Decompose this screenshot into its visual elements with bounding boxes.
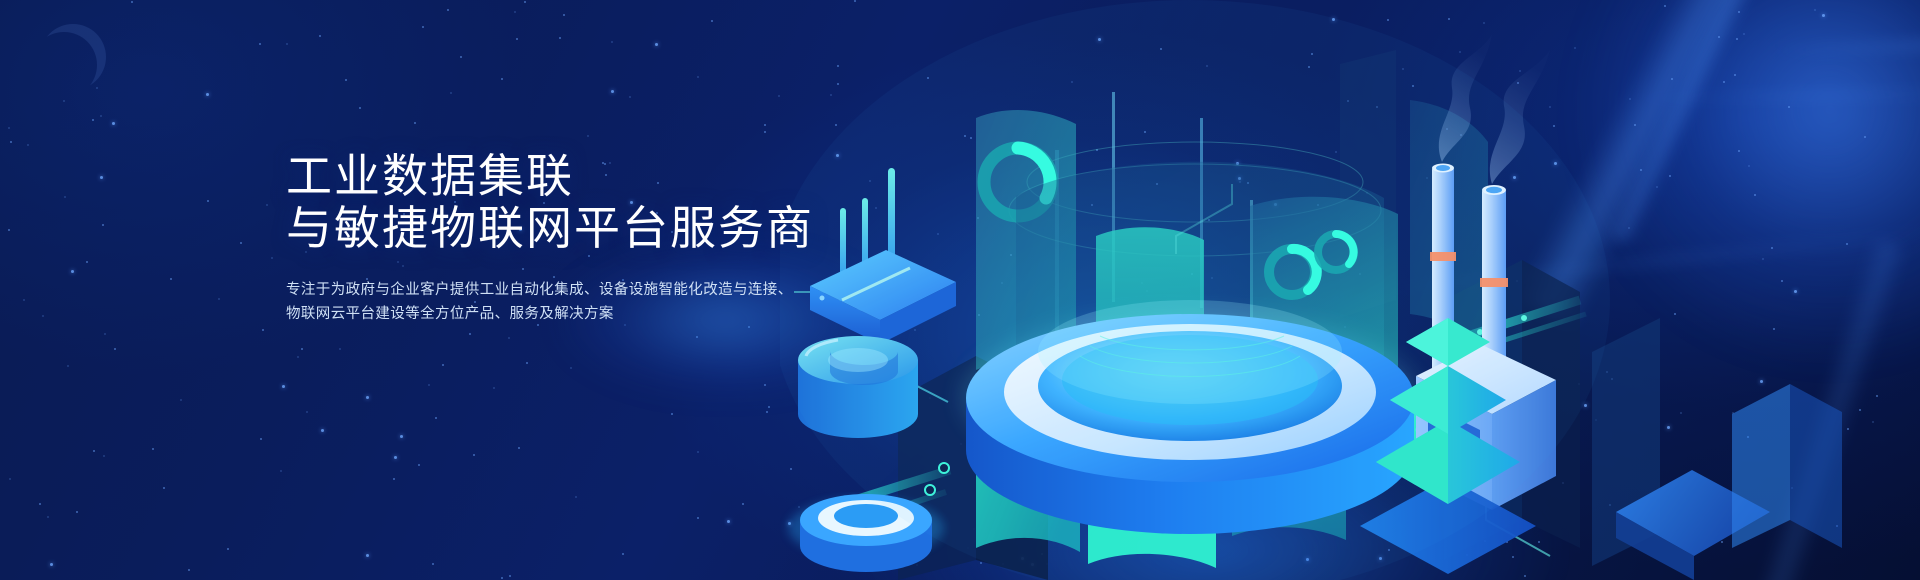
star <box>622 553 624 555</box>
star <box>469 333 471 335</box>
star <box>63 100 65 102</box>
star <box>697 517 699 519</box>
star <box>8 229 10 231</box>
star <box>306 411 308 413</box>
star <box>104 333 106 335</box>
star <box>508 337 510 339</box>
star <box>42 315 44 317</box>
star <box>764 124 766 126</box>
star <box>516 38 518 40</box>
star <box>206 93 209 96</box>
star <box>766 411 768 413</box>
star <box>114 348 116 350</box>
star <box>67 365 69 367</box>
star <box>286 43 288 45</box>
subtitle-line-2: 物联网云平台建设等全方位产品、服务及解决方案 <box>286 302 906 326</box>
star <box>260 438 262 440</box>
star <box>697 451 699 453</box>
star <box>39 503 41 505</box>
star <box>559 37 561 39</box>
star <box>10 141 12 143</box>
star <box>9 478 11 480</box>
star <box>103 455 105 457</box>
star <box>96 87 98 89</box>
star <box>563 14 565 16</box>
banner-copy: 工业数据集联 与敏捷物联网平台服务商 专注于为政府与企业客户提供工业自动化集成、… <box>286 150 906 326</box>
star <box>442 364 444 366</box>
star <box>727 520 730 523</box>
star <box>280 470 282 472</box>
star <box>509 575 511 577</box>
star <box>414 122 416 124</box>
star <box>366 396 369 399</box>
page-title-line-1: 工业数据集联 <box>286 150 906 202</box>
star <box>92 119 94 121</box>
star <box>764 131 766 133</box>
star <box>366 554 369 557</box>
star <box>86 261 88 263</box>
banner-subtitle: 专注于为政府与企业客户提供工业自动化集成、设备设施智能化改造与连接、 物联网云平… <box>286 278 906 326</box>
star <box>493 387 495 389</box>
star <box>450 92 452 94</box>
star <box>501 577 503 579</box>
star <box>339 348 341 350</box>
star <box>102 224 104 226</box>
star <box>170 278 172 280</box>
star <box>435 417 437 419</box>
star <box>71 270 74 273</box>
star <box>271 257 273 259</box>
star <box>428 384 430 386</box>
star <box>218 298 220 300</box>
star <box>393 478 395 480</box>
star <box>152 448 154 450</box>
star <box>629 96 631 98</box>
star <box>575 496 577 498</box>
star <box>711 20 713 22</box>
star <box>501 78 503 80</box>
star <box>697 76 699 78</box>
star <box>319 35 321 37</box>
star <box>163 487 165 489</box>
hero-illustration <box>780 0 1920 580</box>
star <box>100 176 103 179</box>
star <box>27 144 29 146</box>
star <box>345 79 347 81</box>
star <box>100 115 102 117</box>
star <box>180 399 182 401</box>
star <box>282 385 285 388</box>
page-title-line-2: 与敏捷物联网平台服务商 <box>286 202 906 254</box>
star <box>447 9 449 11</box>
star <box>742 503 744 505</box>
star <box>188 569 190 571</box>
star <box>227 548 229 550</box>
star <box>112 122 115 125</box>
star <box>321 429 324 432</box>
star <box>611 41 613 43</box>
subtitle-line-1: 专注于为政府与企业客户提供工业自动化集成、设备设施智能化改造与连接、 <box>286 278 906 302</box>
star <box>587 135 589 137</box>
hero-banner: 工业数据集联 与敏捷物联网平台服务商 专注于为政府与企业客户提供工业自动化集成、… <box>0 0 1920 580</box>
star <box>259 43 261 45</box>
star <box>93 450 95 452</box>
star <box>359 107 361 109</box>
star <box>432 563 434 565</box>
star <box>518 447 520 449</box>
star <box>671 413 673 415</box>
star <box>514 11 516 13</box>
star <box>64 196 66 198</box>
star <box>8 127 10 129</box>
star <box>76 511 78 513</box>
star <box>297 356 299 358</box>
star <box>131 1 133 3</box>
star <box>418 464 420 466</box>
star <box>240 242 242 244</box>
star <box>655 43 658 46</box>
star <box>473 454 475 456</box>
star <box>394 456 397 459</box>
star <box>524 1 526 3</box>
star <box>262 329 264 331</box>
star <box>611 90 614 93</box>
star <box>23 299 25 301</box>
star <box>400 435 403 438</box>
star <box>207 200 209 202</box>
star <box>768 406 770 408</box>
star <box>47 516 49 518</box>
star <box>526 362 528 364</box>
star <box>50 563 53 566</box>
star <box>266 204 268 206</box>
star <box>422 26 424 28</box>
star <box>301 348 303 350</box>
star <box>460 56 462 58</box>
